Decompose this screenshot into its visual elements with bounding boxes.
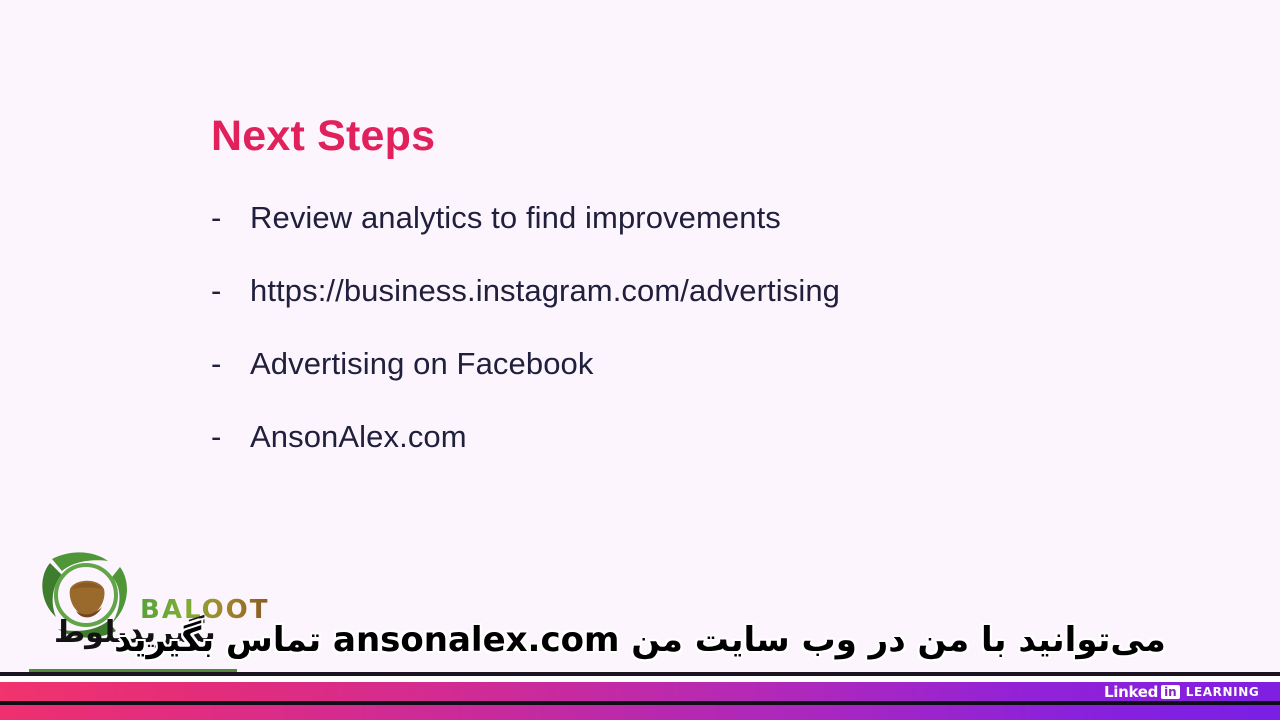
page-title: Next Steps xyxy=(211,112,435,161)
linkedin-in-icon: in xyxy=(1161,685,1180,699)
list-item: - Advertising on Facebook xyxy=(211,346,1111,419)
bullet-dash-icon: - xyxy=(211,346,250,382)
list-item: - https://business.instagram.com/adverti… xyxy=(211,273,1111,346)
list-item: - Review analytics to find improvements xyxy=(211,200,1111,273)
subtitle-text: می‌توانید با من در وب سایت من ansonalex.… xyxy=(114,620,1166,660)
list-item-label: Review analytics to find improvements xyxy=(250,200,781,236)
list-item-label: https://business.instagram.com/advertisi… xyxy=(250,273,840,309)
baloot-persian-name: بگیریدبلوط xyxy=(54,615,216,650)
footer-gradient-bar-primary xyxy=(0,682,1280,701)
linkedin-wordmark: Linked xyxy=(1104,683,1158,701)
footer-gradient-bar-secondary xyxy=(0,705,1280,720)
list-item: - AnsonAlex.com xyxy=(211,419,1111,492)
list-item-label: AnsonAlex.com xyxy=(250,419,467,455)
bullet-dash-icon: - xyxy=(211,419,250,455)
bullet-dash-icon: - xyxy=(211,273,250,309)
bullet-dash-icon: - xyxy=(211,200,250,236)
learning-wordmark: LEARNING xyxy=(1186,685,1260,699)
slide-canvas: Next Steps - Review analytics to find im… xyxy=(0,0,1280,720)
bullet-list: - Review analytics to find improvements … xyxy=(211,200,1111,492)
linkedin-learning-logo: Linked in LEARNING xyxy=(1104,683,1259,701)
list-item-label: Advertising on Facebook xyxy=(250,346,594,382)
